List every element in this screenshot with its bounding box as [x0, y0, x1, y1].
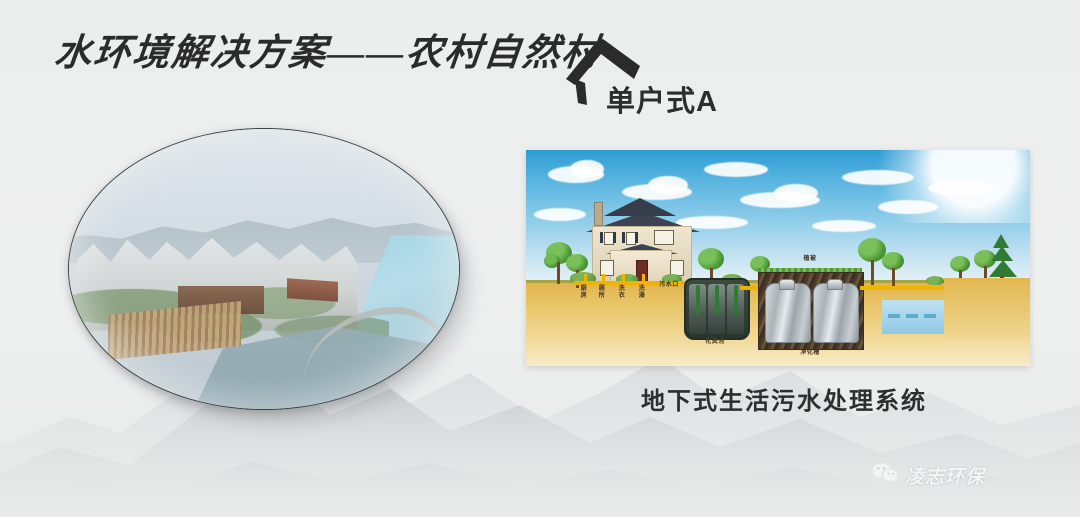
diagram-label-septic-tank: 化粪池	[685, 339, 745, 346]
window-icon	[654, 230, 674, 245]
diagram-label-kitchen: 厨房	[577, 286, 591, 300]
village-photo-frame	[68, 128, 458, 408]
cloud-icon	[812, 220, 876, 232]
diagram-label-vegetation: 植被	[780, 256, 840, 263]
house-illustration	[586, 198, 696, 280]
cloud-icon	[878, 200, 938, 214]
shutter-icon	[600, 232, 603, 243]
cloud-icon	[570, 160, 604, 178]
bush-icon	[926, 276, 944, 285]
diagram-label-purification-tank: 净化槽	[780, 350, 840, 357]
receiving-water-pond	[882, 300, 944, 334]
chimney-icon	[594, 202, 603, 226]
shutter-icon	[613, 232, 616, 243]
cloud-icon	[534, 208, 586, 221]
cloud-icon	[774, 184, 818, 202]
subtitle-single-household-a: 单户式A	[606, 78, 718, 120]
sewer-drop-pipe	[602, 274, 605, 283]
diagram-label-laundry: 洗衣	[615, 286, 629, 300]
shutter-icon	[622, 232, 625, 243]
slide-canvas: 水环境解决方案——农村自然村 单户式A	[0, 0, 1080, 517]
village-river-aerial-photo	[68, 128, 460, 410]
purification-tank-pit	[758, 272, 864, 350]
diagram-label-outlet: 污水口	[656, 282, 682, 289]
tree-icon	[882, 252, 906, 286]
diagram-label-toilet: 厕所	[595, 286, 609, 300]
sewer-drop-pipe	[642, 274, 645, 283]
wechat-icon	[872, 462, 898, 489]
sewage-system-diagram: 厨房 厕所 洗衣 洗澡 污水口 化粪池 植被 净化槽	[526, 150, 1030, 366]
house-upper-roof	[604, 198, 676, 216]
diagram-caption: 地下式生活污水处理系统	[641, 381, 927, 416]
cloud-icon	[928, 180, 994, 196]
sewer-drop-pipe	[584, 274, 587, 283]
cloud-icon	[842, 170, 914, 185]
photo-vignette	[69, 129, 459, 409]
discharge-pipe	[860, 286, 946, 290]
watermark-brand: 凌志环保	[905, 462, 985, 489]
shutter-icon	[635, 232, 638, 243]
cloud-icon	[648, 176, 688, 194]
diagram-label-bath: 洗澡	[635, 286, 649, 300]
watermark: 凌志环保	[872, 462, 985, 489]
cloud-icon	[704, 162, 768, 177]
page-title: 水环境解决方案——农村自然村	[52, 22, 604, 76]
sewer-drop-pipe	[622, 274, 625, 283]
soil-bank	[944, 278, 1030, 338]
